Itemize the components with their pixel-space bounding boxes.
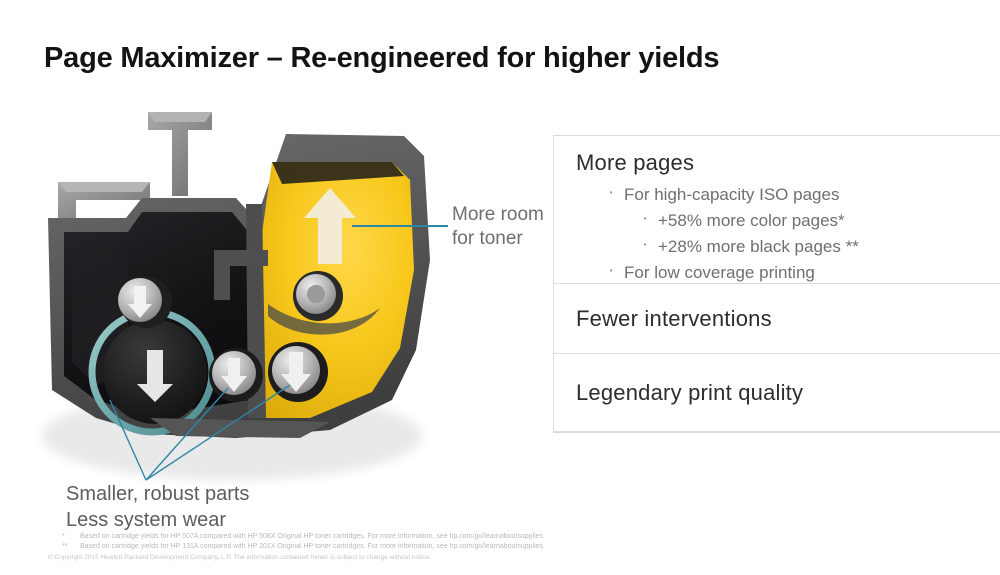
- page-title: Page Maximizer – Re-engineered for highe…: [44, 42, 719, 75]
- cartridge-handle: [148, 112, 212, 196]
- small-roller: [209, 348, 263, 402]
- benefits-panel: More pages For high-capacity ISO pages +…: [553, 135, 1000, 433]
- panel-section-legendary-quality: Legendary print quality: [554, 354, 1000, 432]
- footnote-1-marker: *: [62, 532, 80, 542]
- callout-more-room: More room for toner: [452, 203, 544, 251]
- section-heading-fewer-interventions: Fewer interventions: [576, 306, 772, 332]
- small-roller: [293, 271, 343, 321]
- bullet-black-pages: +28% more black pages **: [636, 234, 1000, 260]
- bullet-list-level2: +58% more color pages* +28% more black p…: [636, 208, 1000, 260]
- callout-parts-line1: Smaller, robust parts: [66, 481, 249, 507]
- footnote-2-text: Based on cartridge yields for HP 131A co…: [80, 543, 543, 550]
- bullet-list-level1: For high-capacity ISO pages: [602, 182, 1000, 208]
- callout-more-room-line2: for toner: [452, 227, 544, 251]
- leader-line-more-room: [352, 225, 448, 227]
- callout-parts-line2: Less system wear: [66, 507, 249, 533]
- toner-cartridge-illustration: [0, 100, 470, 490]
- footnote-2: **Based on cartridge yields for HP 131A …: [62, 542, 543, 552]
- bullet-low-coverage: For low coverage printing: [602, 260, 1000, 286]
- callout-more-room-line1: More room: [452, 203, 544, 227]
- footnote-2-marker: **: [62, 542, 80, 552]
- bullet-high-capacity: For high-capacity ISO pages: [602, 182, 1000, 208]
- panel-section-more-pages: More pages For high-capacity ISO pages +…: [554, 136, 1000, 284]
- copyright-notice: © Copyright 2015 Hewlett-Packard Develop…: [48, 553, 431, 563]
- bullet-color-pages: +58% more color pages*: [636, 208, 1000, 234]
- section-heading-more-pages: More pages: [576, 150, 1000, 176]
- footnote-1-text: Based on cartridge yields for HP 507A co…: [80, 533, 543, 540]
- panel-section-fewer-interventions: Fewer interventions: [554, 284, 1000, 354]
- bullet-list-level1-b: For low coverage printing: [602, 260, 1000, 286]
- slide-canvas: Page Maximizer – Re-engineered for highe…: [0, 0, 1000, 575]
- footnote-1: *Based on cartridge yields for HP 507A c…: [62, 532, 543, 542]
- callout-smaller-parts: Smaller, robust parts Less system wear: [66, 481, 249, 533]
- section-heading-legendary-quality: Legendary print quality: [576, 380, 803, 406]
